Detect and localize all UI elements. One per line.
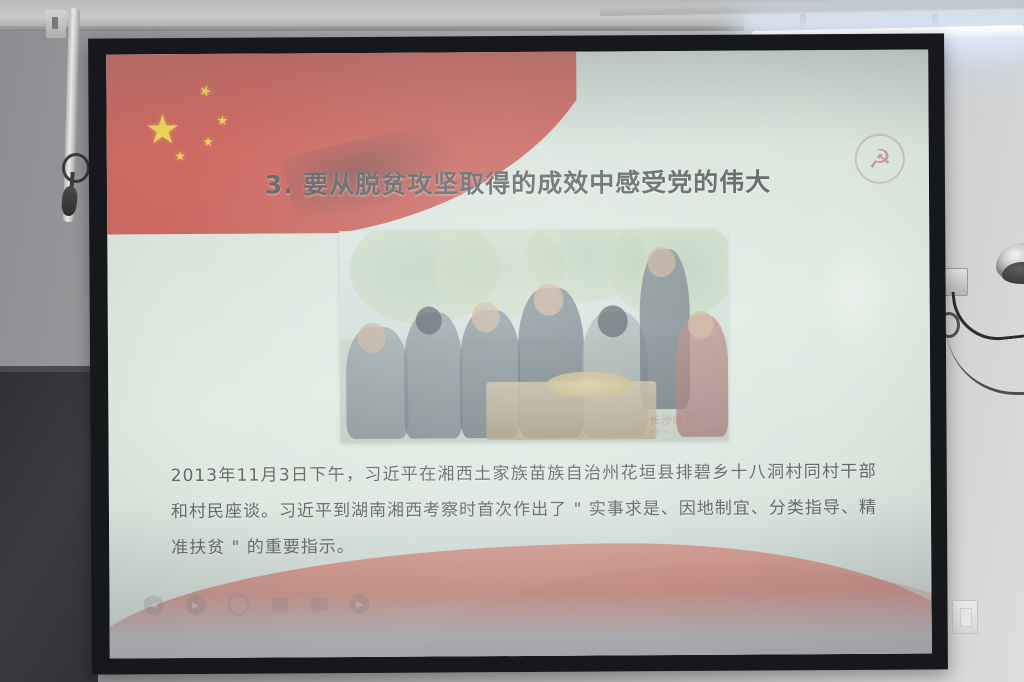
watermark-text: 长沙晚报 — [649, 414, 697, 427]
photo-person-head — [472, 302, 500, 332]
photo-person-head — [358, 323, 386, 353]
slide-title: 3. 要从脱贫攻坚取得的成效中感受党的伟大 — [107, 161, 929, 202]
projection-screen-surface[interactable]: ★ ★ ★ ★ ★ ☭ 3. 要从脱贫攻坚取得的成效中感受党的伟大 — [106, 49, 932, 658]
slide-photo: 长沙晚报 www.icswb.com — [339, 229, 728, 443]
photo-person-head — [416, 306, 442, 334]
light-switch[interactable] — [952, 600, 978, 634]
photo-person-head — [598, 305, 628, 337]
photo-person-head — [647, 247, 675, 277]
pointer-button[interactable] — [227, 594, 249, 616]
photo-watermark: 长沙晚报 www.icswb.com — [649, 412, 723, 435]
flag-star-icon: ★ — [217, 114, 229, 127]
flag-star-icon: ★ — [145, 110, 181, 150]
play-button[interactable]: ▶ — [185, 595, 205, 615]
hanging-hook-icon[interactable] — [62, 153, 90, 183]
presentation-toolbar[interactable]: ◀ ▶ ▶ — [143, 593, 369, 616]
photo-person-head — [534, 284, 564, 316]
slide-canvas: ★ ★ ★ ★ ★ ☭ 3. 要从脱贫攻坚取得的成效中感受党的伟大 — [106, 49, 932, 658]
flag-star-icon: ★ — [175, 150, 186, 162]
photo-person-head — [688, 311, 714, 339]
screen-glare — [819, 240, 890, 350]
previous-slide-button[interactable]: ◀ — [143, 595, 163, 615]
projection-screen-frame: ★ ★ ★ ★ ★ ☭ 3. 要从脱贫攻坚取得的成效中感受党的伟大 — [88, 33, 948, 674]
flag-banner: ★ ★ ★ ★ ★ — [106, 52, 577, 235]
chalkboard — [0, 372, 98, 682]
pen-button[interactable] — [271, 597, 288, 611]
watermark-url: www.icswb.com — [649, 428, 723, 435]
flag-star-icon: ★ — [203, 136, 214, 148]
next-slide-button[interactable]: ▶ — [349, 594, 369, 614]
slide-menu-button[interactable] — [310, 597, 327, 611]
pipe-clip — [46, 10, 66, 38]
classroom-scene: ★ ★ ★ ★ ★ ☭ 3. 要从脱贫攻坚取得的成效中感受党的伟大 — [0, 0, 1024, 682]
